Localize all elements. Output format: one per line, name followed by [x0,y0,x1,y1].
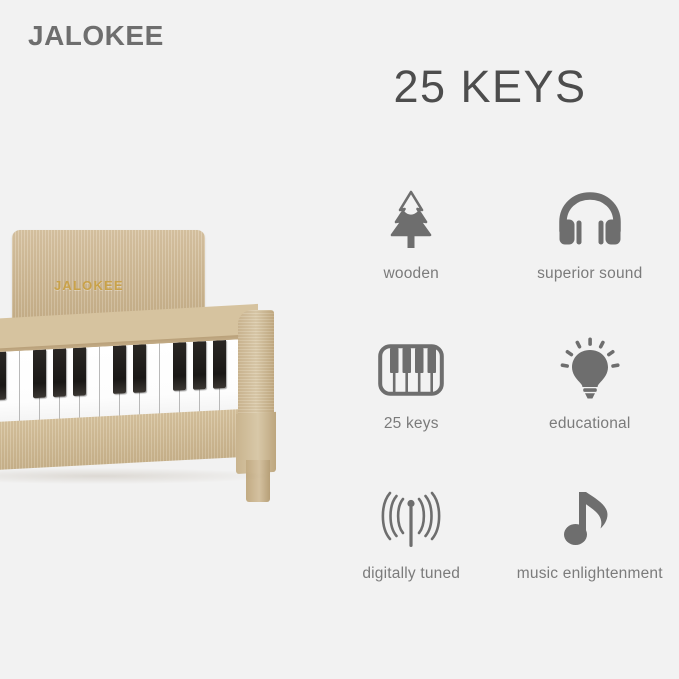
feature-label: superior sound [537,265,642,283]
music-note-icon [562,487,618,553]
lightbulb-icon [557,337,623,403]
piano-keys-icon [377,337,445,403]
feature-wooden: wooden [322,160,501,310]
black-key [0,352,6,401]
feature-music-enlightenment: music enlightenment [501,460,679,610]
feature-grid: wooden superior sound [322,160,679,610]
black-key [113,345,126,394]
black-key [173,342,186,391]
black-key [213,340,226,389]
product-image: JALOKEE [0,228,320,503]
page-title: 25 KEYS [340,64,640,109]
headphones-icon [555,187,625,253]
feature-superior-sound: superior sound [501,160,679,310]
feature-educational: educational [501,310,679,460]
signal-antenna-icon [378,487,444,553]
black-key [33,349,46,398]
feature-label: 25 keys [384,415,439,433]
black-key [53,348,66,397]
black-key [193,341,206,390]
black-key [73,347,86,396]
product-shadow [0,468,270,484]
pine-tree-icon [381,187,441,253]
feature-label: music enlightenment [517,565,663,583]
product-feature-banner: JALOKEE 25 KEYS JALOKEE [0,0,679,679]
feature-label: digitally tuned [362,565,460,583]
feature-label: educational [549,415,631,433]
feature-digitally-tuned: digitally tuned [322,460,501,610]
black-key [133,344,146,393]
brand-wordmark: JALOKEE [28,22,164,50]
feature-25-keys: 25 keys [322,310,501,460]
piano-side-cheek [238,310,274,422]
stand-logo: JALOKEE [54,278,124,293]
feature-label: wooden [384,265,440,283]
